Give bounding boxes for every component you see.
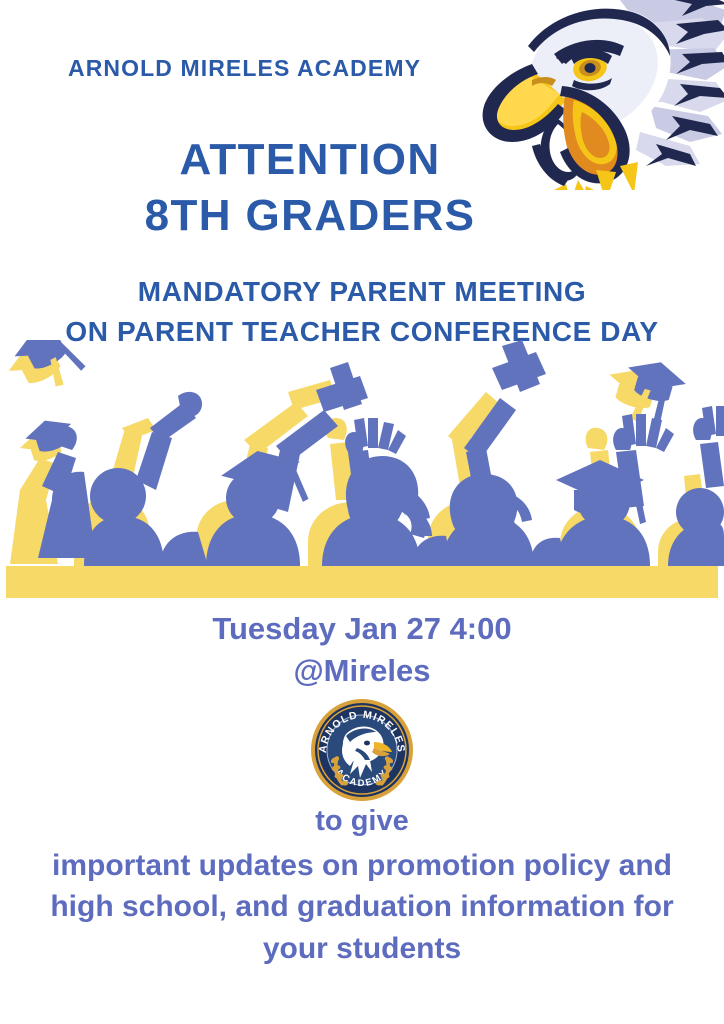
purpose-line-2: high school, and graduation information … — [14, 886, 710, 927]
headline-line-grade: 8TH GRADERS — [0, 188, 620, 244]
purpose-lead-text: to give — [0, 805, 724, 838]
purpose-line-3: your students — [14, 928, 710, 969]
flyer-page: ARNOLD MIRELES ACADEMY ATTENTION 8TH GRA… — [0, 0, 724, 1024]
purpose-details-block: important updates on promotion policy an… — [0, 845, 724, 969]
purpose-line-1: important updates on promotion policy an… — [14, 845, 710, 886]
event-datetime-block: Tuesday Jan 27 4:00 @Mireles — [0, 608, 724, 691]
headline-block: ATTENTION 8TH GRADERS — [0, 132, 620, 245]
event-date-time: Tuesday Jan 27 4:00 — [0, 608, 724, 650]
school-name-heading: ARNOLD MIRELES ACADEMY — [68, 55, 421, 82]
school-seal-icon: ARNOLD MIRELES ACADEMY — [310, 698, 414, 802]
event-location: @Mireles — [0, 650, 724, 692]
subheading-line-1: MANDATORY PARENT MEETING — [0, 272, 724, 312]
graduation-celebration-silhouette — [0, 340, 724, 602]
headline-line-attention: ATTENTION — [0, 132, 620, 188]
